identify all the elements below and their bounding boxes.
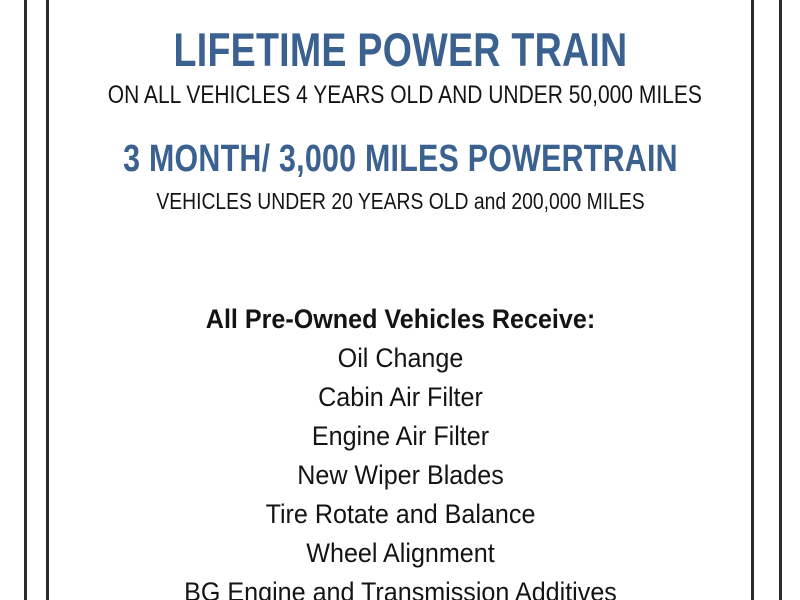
lifetime-powertrain-subtitle: ON ALL VEHICLES 4 YEARS OLD AND UNDER 50… (108, 83, 693, 108)
three-month-powertrain-subtitle: VEHICLES UNDER 20 YEARS OLD and 200,000 … (108, 190, 693, 213)
service-item: Oil Change (76, 339, 724, 378)
service-item: Tire Rotate and Balance (76, 495, 724, 534)
service-item: Engine Air Filter (76, 417, 724, 456)
three-month-powertrain-title: 3 MONTH/ 3,000 MILES POWERTRAIN (122, 140, 680, 178)
border-rule-left-outer (24, 0, 27, 600)
warranty-flyer: LIFETIME POWER TRAIN ON ALL VEHICLES 4 Y… (0, 0, 800, 600)
services-heading: All Pre-Owned Vehicles Receive: (76, 300, 724, 339)
service-item: BG Engine and Transmission Additives (76, 573, 724, 600)
services-section: All Pre-Owned Vehicles Receive: Oil Chan… (52, 300, 749, 600)
border-rule-left-inner (46, 0, 49, 600)
service-item: Wheel Alignment (76, 534, 724, 573)
lifetime-powertrain-title: LIFETIME POWER TRAIN (122, 26, 680, 73)
service-item: New Wiper Blades (76, 456, 724, 495)
service-item: Cabin Air Filter (76, 378, 724, 417)
flyer-content: LIFETIME POWER TRAIN ON ALL VEHICLES 4 Y… (52, 0, 749, 600)
border-rule-right-inner (751, 0, 754, 600)
border-rule-right-outer (779, 0, 782, 600)
